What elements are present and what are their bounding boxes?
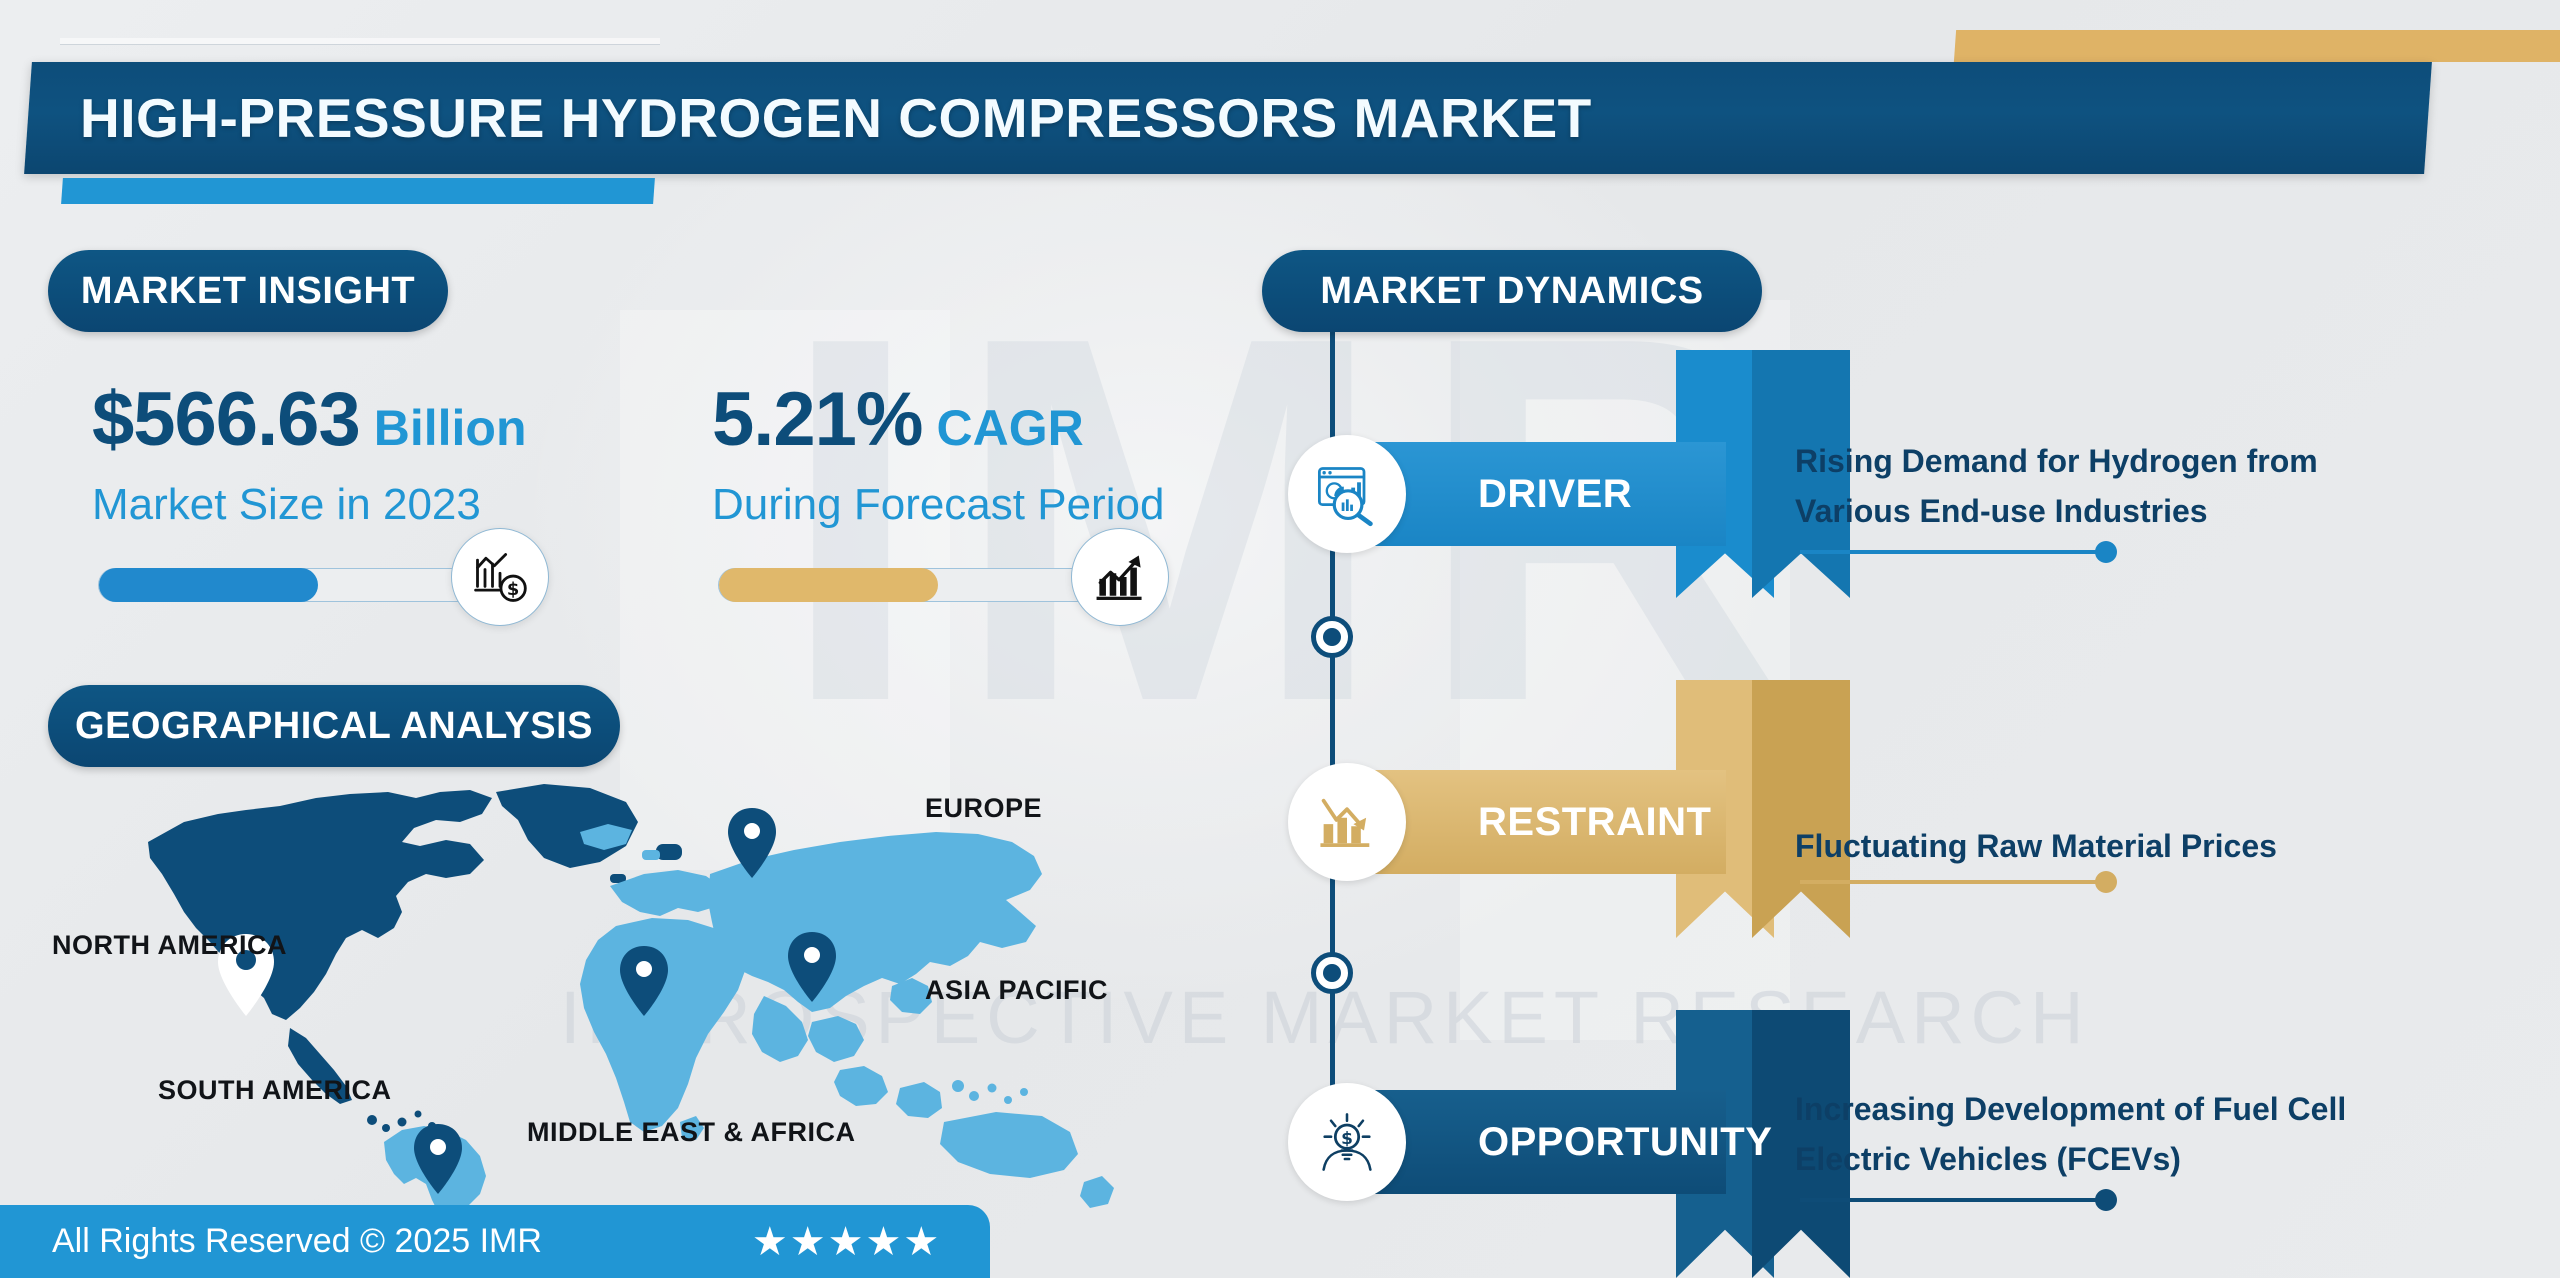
kpi-market-size-value-row: $566.63Billion (92, 382, 527, 458)
dynamics-connector-dot-restraint (2095, 871, 2117, 893)
lightbulb-dollar-icon: $ (1288, 1083, 1406, 1201)
map-label-asia-pacific: ASIA PACIFIC (925, 975, 1108, 1006)
kpi-market-size-caption: Market Size in 2023 (92, 480, 527, 530)
kpi-cagr-unit: CAGR (937, 400, 1084, 456)
map-label-middle-east-africa: MIDDLE EAST & AFRICA (527, 1117, 856, 1148)
kpi-cagr-value-row: 5.21%CAGR (712, 382, 1164, 458)
bar-chart-dollar-icon: $ (451, 528, 549, 626)
dynamics-text-driver-line1: Rising Demand for Hydrogen from (1795, 437, 2318, 487)
section-pill-geographical-analysis[interactable]: GEOGRAPHICAL ANALYSIS (48, 685, 620, 767)
section-pill-market-dynamics[interactable]: MARKET DYNAMICS (1262, 250, 1762, 332)
copyright-text: All Rights Reserved © 2025 IMR (52, 1222, 542, 1261)
rating-stars: ★★★★★ (752, 1222, 941, 1262)
progress-market-size-track: $ (98, 568, 498, 602)
progress-cagr-track (718, 568, 1118, 602)
dynamics-label-driver: DRIVER (1478, 472, 1632, 517)
map-label-north-america: NORTH AMERICA (52, 930, 287, 961)
dynamics-connector-dot-opportunity (2095, 1189, 2117, 1211)
progress-market-size-fill (99, 568, 318, 602)
dynamics-connector-restraint (1800, 880, 2108, 884)
kpi-cagr-caption: During Forecast Period (712, 480, 1164, 530)
dynamics-text-opportunity: Increasing Development of Fuel Cell Elec… (1795, 1085, 2346, 1184)
growth-chart-arrow-icon (1071, 528, 1169, 626)
kpi-cagr: 5.21%CAGR During Forecast Period (712, 382, 1164, 530)
dynamics-text-restraint: Fluctuating Raw Material Prices (1795, 822, 2277, 872)
dynamics-label-restraint: RESTRAINT (1478, 800, 1711, 845)
footer-bar: All Rights Reserved © 2025 IMR ★★★★★ (0, 1205, 990, 1278)
dynamics-label-opportunity: OPPORTUNITY (1478, 1120, 1772, 1165)
section-pill-geographical-analysis-label: GEOGRAPHICAL ANALYSIS (75, 705, 593, 748)
ribbon-restraint-right (1752, 680, 1850, 938)
map-label-south-america: SOUTH AMERICA (158, 1075, 392, 1106)
svg-text:$: $ (507, 579, 519, 600)
dynamics-text-driver: Rising Demand for Hydrogen from Various … (1795, 437, 2318, 536)
chart-magnifier-icon (1288, 435, 1406, 553)
svg-text:$: $ (1341, 1129, 1353, 1149)
kpi-market-size-unit: Billion (374, 400, 527, 456)
timeline-node-1 (1311, 616, 1353, 658)
dynamics-connector-opportunity (1800, 1198, 2108, 1202)
section-pill-market-insight-label: MARKET INSIGHT (81, 270, 415, 313)
dynamics-text-driver-line2: Various End-use Industries (1795, 487, 2318, 537)
section-pill-market-dynamics-label: MARKET DYNAMICS (1320, 270, 1703, 313)
declining-bar-chart-icon (1288, 763, 1406, 881)
dynamics-connector-driver (1800, 550, 2108, 554)
progress-cagr[interactable] (718, 568, 1118, 602)
dynamics-text-opportunity-line2: Electric Vehicles (FCEVs) (1795, 1135, 2346, 1185)
kpi-market-size: $566.63Billion Market Size in 2023 (92, 382, 527, 530)
dynamics-text-opportunity-line1: Increasing Development of Fuel Cell (1795, 1085, 2346, 1135)
timeline-node-2 (1311, 952, 1353, 994)
dynamics-text-restraint-line1: Fluctuating Raw Material Prices (1795, 822, 2277, 872)
section-pill-market-insight[interactable]: MARKET INSIGHT (48, 250, 448, 332)
progress-cagr-fill (719, 568, 938, 602)
map-label-europe: EUROPE (925, 793, 1042, 824)
dynamics-connector-dot-driver (2095, 541, 2117, 563)
infographic-canvas: IMR INTROSPECTIVE MARKET RESEARCH HIGH-P… (0, 0, 2560, 1278)
kpi-cagr-value: 5.21% (712, 377, 923, 462)
kpi-market-size-value: $566.63 (92, 377, 360, 462)
progress-market-size[interactable]: $ (98, 568, 498, 602)
